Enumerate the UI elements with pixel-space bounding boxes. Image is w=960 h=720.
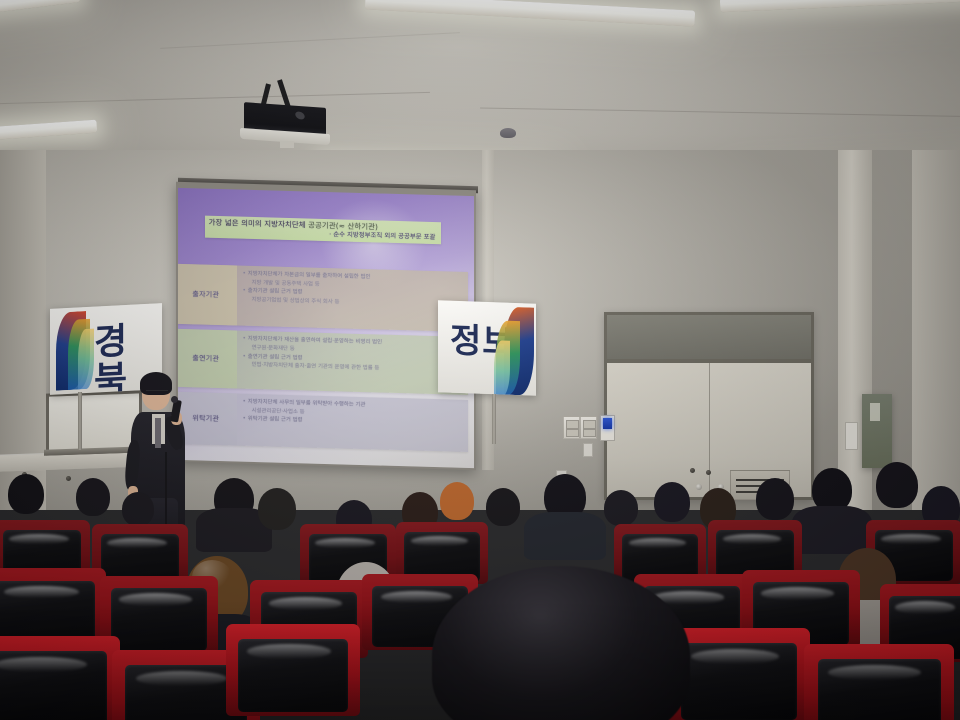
slide-bullet-text: 출자기관 설립 근거 법령 bbox=[248, 288, 303, 296]
wall-switch-button[interactable] bbox=[583, 420, 596, 429]
microphone-head bbox=[171, 396, 178, 403]
banner-pole bbox=[492, 394, 496, 444]
audience-head bbox=[76, 478, 110, 516]
slide-row: 위탁기관 •지방자치단체 사무의 일부를 위탁받아 수행하는 기관 시설관리공단… bbox=[178, 392, 468, 452]
auditorium-seat[interactable] bbox=[804, 644, 954, 720]
wall-switch-button[interactable] bbox=[583, 429, 596, 437]
slide-row-label: 출연기관 bbox=[178, 329, 237, 388]
slide-bullet-text: 지방 개발 및 공동주택 사업 등 bbox=[252, 280, 320, 288]
microphone-stand bbox=[165, 452, 167, 530]
wall-switch-plate[interactable] bbox=[580, 416, 597, 439]
door-transom-window bbox=[607, 315, 811, 359]
door-knob[interactable] bbox=[696, 484, 702, 490]
slide-row-label: 위탁기관 bbox=[178, 392, 237, 445]
projection-screen: 가장 넓은 의미의 지방자치단체 공공기관(≈ 산하기관) · 순수 지방정부조… bbox=[176, 182, 476, 470]
projector-stub bbox=[280, 141, 294, 148]
slide-bullet-text: 출연기관 설립 근거 법령 bbox=[248, 353, 303, 361]
slide-row: 출자기관 •지방자치단체가 자본금의 일부를 출자하여 설립한 법인 지방 개발… bbox=[178, 264, 468, 332]
slide-bullet-text: 위탁기관 설립 근거 법령 bbox=[248, 416, 303, 424]
wall-bolt bbox=[690, 468, 695, 473]
wall-switch-plate[interactable] bbox=[563, 416, 580, 439]
banner-right: 정보 bbox=[438, 300, 536, 395]
banner-pole bbox=[78, 392, 82, 450]
slide-bullet-text: 연구원·문화재단 등 bbox=[252, 345, 295, 352]
banner-graphic bbox=[54, 310, 98, 390]
audience-head bbox=[876, 462, 918, 508]
wall-switch-button[interactable] bbox=[566, 420, 579, 429]
wall-switch-button[interactable] bbox=[566, 429, 579, 437]
audience-head bbox=[756, 478, 794, 520]
wall-bolt bbox=[66, 476, 71, 481]
banner-graphic bbox=[494, 306, 536, 395]
audience-head bbox=[440, 482, 474, 520]
smoke-detector-icon bbox=[500, 128, 516, 138]
audience-body bbox=[792, 506, 872, 554]
audience-head bbox=[258, 488, 296, 530]
panel-display-icon bbox=[603, 418, 612, 429]
wall-notice bbox=[583, 443, 593, 457]
glasses-icon bbox=[146, 390, 168, 394]
access-control-panel[interactable] bbox=[600, 415, 615, 441]
right-side-wall bbox=[912, 150, 960, 510]
audience-body bbox=[524, 512, 606, 560]
audience-head bbox=[654, 482, 690, 522]
lecture-hall-photo: 가장 넓은 의미의 지방자치단체 공공기관(≈ 산하기관) · 순수 지방정부조… bbox=[0, 0, 960, 720]
audience-head bbox=[122, 492, 154, 526]
slide-row-label: 출자기관 bbox=[178, 264, 237, 326]
wall-notice bbox=[845, 422, 858, 450]
slide-row-body: •지방자치단체가 재산을 출연하여 설립·운영하는 비영리 법인 연구원·문화재… bbox=[237, 331, 469, 395]
wall-board bbox=[862, 394, 892, 468]
presenter-tie bbox=[155, 418, 161, 448]
board-paper bbox=[870, 403, 880, 421]
audience-head bbox=[604, 490, 638, 526]
auditorium-seat[interactable] bbox=[226, 624, 360, 716]
presentation-slide: 가장 넓은 의미의 지방자치단체 공공기관(≈ 산하기관) · 순수 지방정부조… bbox=[178, 188, 474, 468]
wall-bolt bbox=[706, 470, 711, 475]
audience-head bbox=[8, 474, 44, 514]
slide-bullet-text: 민법·지방자치단체 출자·출연 기관의 운영에 관한 법률 등 bbox=[252, 362, 380, 372]
auditorium-seat[interactable] bbox=[0, 636, 120, 720]
slide-row-body: •지방자치단체가 자본금의 일부를 출자하여 설립한 법인 지방 개발 및 공동… bbox=[237, 266, 469, 332]
slide-row: 출연기관 •지방자치단체가 재산을 출연하여 설립·운영하는 비영리 법인 연구… bbox=[178, 329, 468, 394]
slide-bullet-text: 지방공기업법 및 상법상의 주식 회사 등 bbox=[252, 297, 340, 305]
slide-row-body: •지방자치단체 사무의 일부를 위탁받아 수행하는 기관 시설관리공단·사업소 … bbox=[237, 394, 469, 452]
door-center-split bbox=[709, 363, 710, 497]
slide-bullet-text: 시설관리공단·사업소 등 bbox=[252, 408, 305, 415]
audience-head bbox=[486, 488, 520, 526]
